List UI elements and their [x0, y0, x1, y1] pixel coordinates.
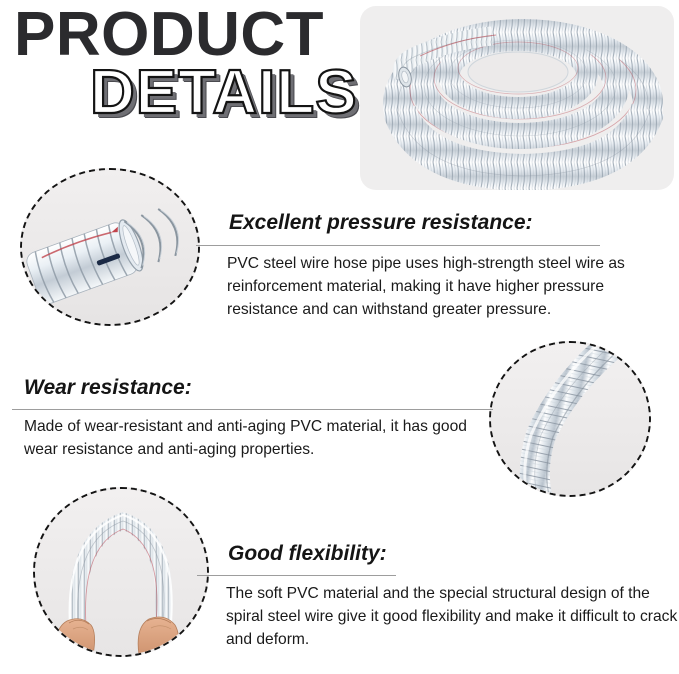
- feature-heading-pressure-resistance: Excellent pressure resistance:: [229, 212, 533, 233]
- hero-product-image: [360, 6, 674, 190]
- feature-heading-good-flexibility: Good flexibility:: [228, 543, 387, 564]
- hose-cutaway-illustration: [22, 170, 198, 324]
- hands-bending-hose-illustration: [35, 489, 207, 655]
- feature-body-pressure-resistance: PVC steel wire hose pipe uses high-stren…: [227, 252, 679, 321]
- feature-body-wear-resistance: Made of wear-resistant and anti-aging PV…: [24, 415, 474, 461]
- feature-heading-wear-resistance: Wear resistance:: [24, 377, 192, 398]
- feature-body-good-flexibility: The soft PVC material and the special st…: [226, 582, 678, 651]
- inset-wear-resistance: [489, 341, 651, 497]
- right-hand: [138, 617, 178, 655]
- title-primary-word: PRODUCT: [14, 4, 324, 66]
- hose-curve-illustration: [491, 343, 649, 495]
- title-secondary-word: DETAILS: [90, 62, 358, 124]
- hose-coil-illustration: [360, 6, 674, 190]
- page-title: PRODUCT DETAILS: [14, 4, 364, 144]
- inset-good-flexibility: [33, 487, 209, 657]
- inset-pressure-resistance: [20, 168, 200, 326]
- feature-rule-wear: [12, 409, 470, 410]
- feature-rule-pressure: [200, 245, 600, 246]
- feature-rule-flexibility: [200, 575, 396, 576]
